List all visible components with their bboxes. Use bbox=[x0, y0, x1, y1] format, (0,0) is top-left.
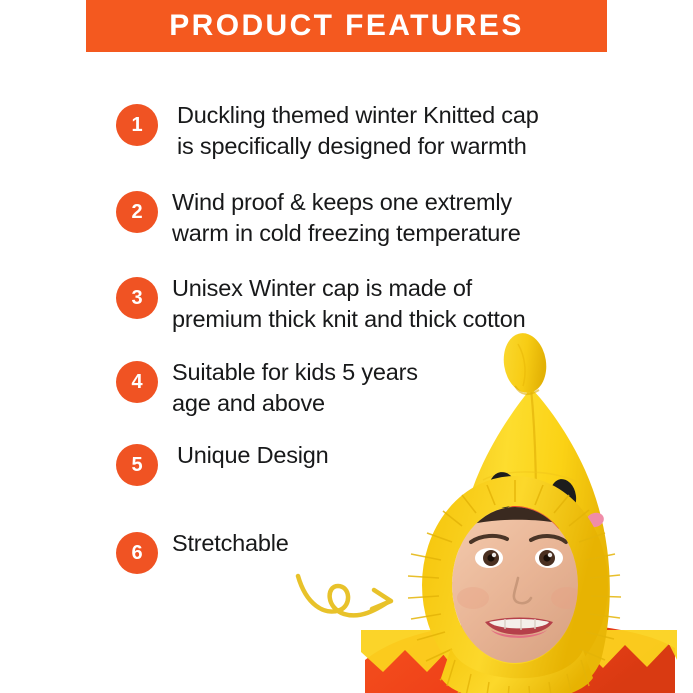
features-list: 1 Duckling themed winter Knitted cap is … bbox=[0, 0, 693, 693]
feature-text: Duckling themed winter Knitted cap is sp… bbox=[177, 100, 627, 162]
product-features-infographic: PRODUCT FEATURES bbox=[0, 0, 693, 693]
feature-number-badge: 2 bbox=[116, 191, 158, 233]
feature-number-badge: 5 bbox=[116, 444, 158, 486]
feature-text: Suitable for kids 5 years age and above bbox=[172, 357, 622, 419]
feature-number-badge: 3 bbox=[116, 277, 158, 319]
feature-number-badge: 6 bbox=[116, 532, 158, 574]
feature-text: Unisex Winter cap is made of premium thi… bbox=[172, 273, 622, 335]
feature-text: Stretchable bbox=[172, 528, 622, 559]
feature-text: Wind proof & keeps one extremly warm in … bbox=[172, 187, 622, 249]
feature-text: Unique Design bbox=[177, 440, 627, 471]
feature-number-badge: 1 bbox=[116, 104, 158, 146]
feature-number-badge: 4 bbox=[116, 361, 158, 403]
